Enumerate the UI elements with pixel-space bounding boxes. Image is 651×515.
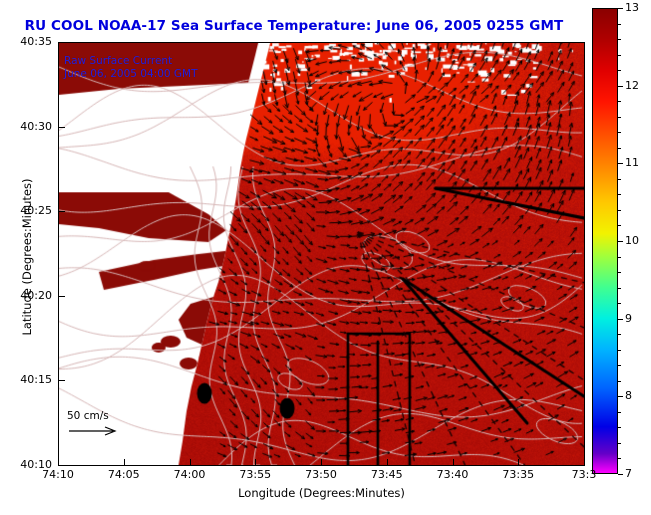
x-axis-tick bbox=[518, 459, 519, 466]
colorbar-minor-tick bbox=[618, 381, 621, 382]
x-axis-tick-label: 73:45 bbox=[357, 468, 417, 481]
y-axis-tick-label: 40:30 bbox=[2, 120, 52, 133]
colorbar-tick bbox=[618, 163, 623, 164]
y-axis-tick-label: 40:15 bbox=[2, 373, 52, 386]
colorbar-tick bbox=[618, 396, 623, 397]
x-axis-tick bbox=[321, 459, 322, 466]
colorbar-tick bbox=[618, 474, 623, 475]
y-axis-tick-label: 40:35 bbox=[2, 35, 52, 48]
y-axis-tick bbox=[58, 296, 65, 297]
colorbar-tick-label: 12 bbox=[625, 79, 639, 92]
colorbar-minor-tick bbox=[618, 272, 621, 273]
y-axis-tick bbox=[58, 380, 65, 381]
colorbar-minor-tick bbox=[618, 412, 621, 413]
colorbar-minor-tick bbox=[618, 334, 621, 335]
figure-title: RU COOL NOAA-17 Sea Surface Temperature:… bbox=[0, 18, 588, 34]
colorbar-tick-label: 10 bbox=[625, 234, 639, 247]
colorbar-tick bbox=[618, 8, 623, 9]
colorbar-minor-tick bbox=[618, 210, 621, 211]
sst-map-figure: RU COOL NOAA-17 Sea Surface Temperature:… bbox=[0, 0, 651, 515]
colorbar-minor-tick bbox=[618, 225, 621, 226]
colorbar-tick-label: 13 bbox=[625, 1, 639, 14]
colorbar-minor-tick bbox=[618, 288, 621, 289]
y-axis-tick-label: 40:10 bbox=[2, 458, 52, 471]
colorbar-minor-tick bbox=[618, 55, 621, 56]
scale-bar-label: 50 cm/s bbox=[67, 410, 121, 422]
colorbar-minor-tick bbox=[618, 24, 621, 25]
x-axis-tick-label: 73:55 bbox=[225, 468, 285, 481]
y-axis-tick bbox=[58, 42, 65, 43]
colorbar-minor-tick bbox=[618, 148, 621, 149]
colorbar-tick bbox=[618, 241, 623, 242]
colorbar-minor-tick bbox=[618, 458, 621, 459]
x-axis-tick-label: 73:40 bbox=[423, 468, 483, 481]
x-axis-tick bbox=[584, 459, 585, 466]
colorbar-minor-tick bbox=[618, 350, 621, 351]
colorbar-minor-tick bbox=[618, 443, 621, 444]
colorbar-minor-tick bbox=[618, 117, 621, 118]
colorbar-minor-tick bbox=[618, 39, 621, 40]
colorbar-minor-tick bbox=[618, 132, 621, 133]
colorbar-minor-tick bbox=[618, 365, 621, 366]
colorbar-minor-tick bbox=[618, 70, 621, 71]
colorbar-tick-label: 7 bbox=[625, 467, 632, 480]
sst-vector-map-canvas bbox=[59, 43, 584, 465]
x-axis-tick-label: 74:05 bbox=[94, 468, 154, 481]
colorbar-tick bbox=[618, 86, 623, 87]
arrow-right-icon bbox=[67, 425, 121, 437]
colorbar-tick bbox=[618, 319, 623, 320]
x-axis-tick-label: 73:3 bbox=[554, 468, 614, 481]
x-axis-tick bbox=[124, 459, 125, 466]
y-axis-tick bbox=[58, 211, 65, 212]
colorbar-gradient bbox=[593, 9, 617, 473]
x-axis-tick bbox=[387, 459, 388, 466]
colorbar-tick-label: 8 bbox=[625, 389, 632, 402]
x-axis-tick-label: 74:00 bbox=[160, 468, 220, 481]
x-axis-tick bbox=[453, 459, 454, 466]
x-axis-tick bbox=[255, 459, 256, 466]
velocity-scale-bar: 50 cm/s bbox=[67, 410, 121, 437]
colorbar-minor-tick bbox=[618, 179, 621, 180]
y-axis-tick bbox=[58, 127, 65, 128]
colorbar-minor-tick bbox=[618, 303, 621, 304]
map-plot-area[interactable]: Raw Surface Current June 06, 2005 04:00 … bbox=[58, 42, 585, 466]
x-axis-tick bbox=[190, 459, 191, 466]
x-axis-tick-label: 73:35 bbox=[488, 468, 548, 481]
colorbar-minor-tick bbox=[618, 257, 621, 258]
colorbar-minor-tick bbox=[618, 101, 621, 102]
x-axis-title: Longitude (Degrees:Minutes) bbox=[58, 486, 585, 500]
colorbar-tick-label: 11 bbox=[625, 156, 639, 169]
colorbar-minor-tick bbox=[618, 427, 621, 428]
y-axis-tick-label: 40:25 bbox=[2, 204, 52, 217]
colorbar-tick-label: 9 bbox=[625, 312, 632, 325]
colorbar-minor-tick bbox=[618, 194, 621, 195]
y-axis-title: Latitude (Degrees:Minutes) bbox=[20, 167, 34, 347]
y-axis-tick bbox=[58, 465, 65, 466]
y-axis-tick-label: 40:20 bbox=[2, 289, 52, 302]
temperature-colorbar bbox=[592, 8, 618, 474]
x-axis-tick-label: 73:50 bbox=[291, 468, 351, 481]
